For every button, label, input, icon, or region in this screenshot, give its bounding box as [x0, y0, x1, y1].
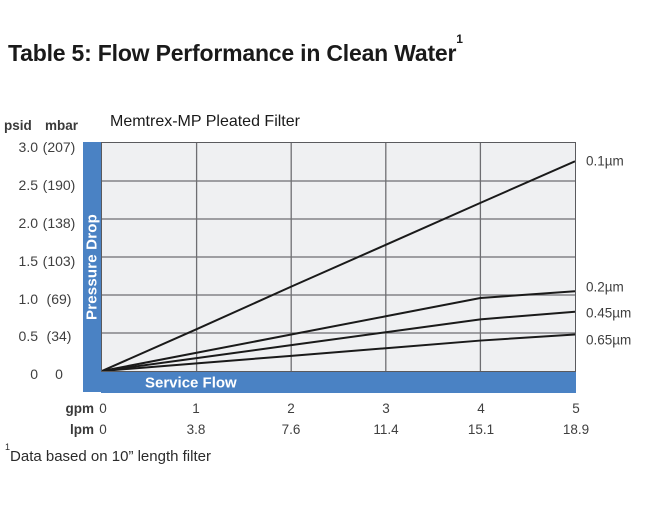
x-tick-lpm-5: 18.9 — [563, 422, 589, 437]
y-tick-psid-4: 1.0 — [2, 291, 38, 307]
y-tick-mbar-1: (190) — [38, 177, 80, 193]
x-tick-gpm-0: 0 — [99, 401, 107, 416]
pressure-drop-axis-band: Pressure Drop — [83, 142, 101, 392]
y-axis-unit-header-psid: psid — [4, 118, 32, 133]
pressure-drop-axis-label: Pressure Drop — [84, 214, 101, 320]
x-tick-gpm-5: 5 — [572, 401, 580, 416]
y-axis-unit-header-mbar: mbar — [45, 118, 78, 133]
footnote: 1Data based on 10” length filter — [5, 447, 211, 465]
y-tick-psid-1: 2.5 — [2, 177, 38, 193]
chart-svg — [102, 143, 575, 371]
x-tick-lpm-0: 0 — [99, 422, 107, 437]
chart-heading: Memtrex-MP Pleated Filter — [110, 113, 300, 131]
curve-label-0-45um: 0.45µm — [586, 306, 631, 321]
footnote-text: Data based on 10” length filter — [10, 448, 211, 465]
curve-label-0-65um: 0.65µm — [586, 333, 631, 348]
x-tick-lpm-4: 15.1 — [468, 422, 494, 437]
x-axis-row-label-lpm: lpm — [34, 422, 94, 437]
page-title: Table 5: Flow Performance in Clean Water… — [8, 40, 463, 67]
x-tick-gpm-4: 4 — [477, 401, 485, 416]
x-tick-lpm-2: 7.6 — [282, 422, 301, 437]
footnote-marker: 1 — [5, 442, 10, 452]
x-tick-lpm-3: 11.4 — [373, 422, 398, 437]
y-tick-psid-6: 0 — [2, 366, 38, 382]
curve-0-45um — [102, 312, 575, 371]
x-tick-gpm-3: 3 — [382, 401, 390, 416]
service-flow-axis-band: Service Flow — [101, 372, 576, 393]
y-tick-psid-5: 0.5 — [2, 328, 38, 344]
x-tick-gpm-2: 2 — [287, 401, 295, 416]
x-axis-row-label-gpm: gpm — [34, 401, 94, 416]
y-tick-mbar-3: (103) — [38, 253, 80, 269]
y-tick-mbar-2: (138) — [38, 215, 80, 231]
service-flow-axis-label: Service Flow — [145, 374, 237, 391]
y-tick-psid-2: 2.0 — [2, 215, 38, 231]
x-tick-gpm-1: 1 — [192, 401, 200, 416]
y-tick-mbar-5: (34) — [38, 328, 80, 344]
curve-0-2um — [102, 291, 575, 371]
chart-plot-area — [101, 142, 576, 372]
y-tick-mbar-0: (207) — [38, 139, 80, 155]
y-tick-mbar-6: 0 — [38, 366, 80, 382]
page-title-footnote-marker: 1 — [456, 32, 462, 46]
y-tick-mbar-4: (69) — [38, 291, 80, 307]
y-tick-psid-3: 1.5 — [2, 253, 38, 269]
x-tick-lpm-1: 3.8 — [187, 422, 206, 437]
horizontal-gridlines — [102, 181, 575, 333]
chart-curves — [102, 161, 575, 371]
page-title-text: Table 5: Flow Performance in Clean Water — [8, 40, 456, 66]
curve-label-0-1um: 0.1µm — [586, 154, 624, 169]
y-tick-psid-0: 3.0 — [2, 139, 38, 155]
curve-label-0-2um: 0.2µm — [586, 280, 624, 295]
